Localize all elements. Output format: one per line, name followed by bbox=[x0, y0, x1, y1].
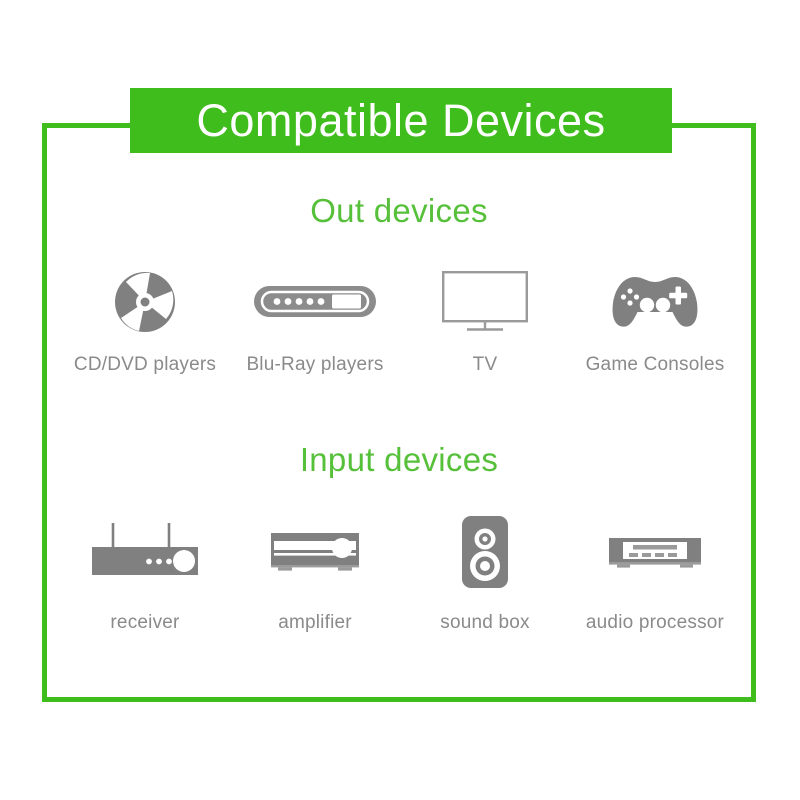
tv-icon bbox=[400, 262, 570, 342]
speaker-icon bbox=[400, 512, 570, 592]
device-item-blu-ray-players: Blu-Ray players bbox=[230, 262, 400, 376]
device-label: Blu-Ray players bbox=[246, 354, 383, 376]
device-label: CD/DVD players bbox=[74, 354, 216, 376]
device-item-tv: TV bbox=[400, 262, 570, 376]
device-item-amplifier: amplifier bbox=[230, 512, 400, 634]
out-devices-row: CD/DVD players Blu-Ray players bbox=[60, 262, 740, 376]
device-label: TV bbox=[473, 354, 498, 376]
av-receiver-icon bbox=[60, 512, 230, 592]
audio-processor-icon bbox=[570, 512, 740, 592]
section-heading-input-devices: Input devices bbox=[42, 441, 756, 479]
cd-disc-icon bbox=[60, 262, 230, 342]
device-item-game-consoles: Game Consoles bbox=[570, 262, 740, 376]
title-banner: Compatible Devices bbox=[130, 88, 672, 153]
device-label: receiver bbox=[110, 612, 179, 634]
device-item-audio-processor: audio processor bbox=[570, 512, 740, 634]
section-heading-out-devices: Out devices bbox=[42, 192, 756, 230]
device-label: amplifier bbox=[278, 612, 352, 634]
device-label: sound box bbox=[440, 612, 529, 634]
page-title: Compatible Devices bbox=[196, 98, 605, 143]
device-item-cd-dvd-players: CD/DVD players bbox=[60, 262, 230, 376]
device-item-receiver: receiver bbox=[60, 512, 230, 634]
amplifier-icon bbox=[230, 512, 400, 592]
compatible-devices-poster: Compatible Devices Out devices CD/DVD pl… bbox=[0, 0, 800, 800]
device-item-sound-box: sound box bbox=[400, 512, 570, 634]
device-label: Game Consoles bbox=[586, 354, 725, 376]
input-devices-row: receiver amplifier bbox=[60, 512, 740, 634]
device-label: audio processor bbox=[586, 612, 724, 634]
blu-ray-player-icon bbox=[230, 262, 400, 342]
gamepad-icon bbox=[570, 262, 740, 342]
